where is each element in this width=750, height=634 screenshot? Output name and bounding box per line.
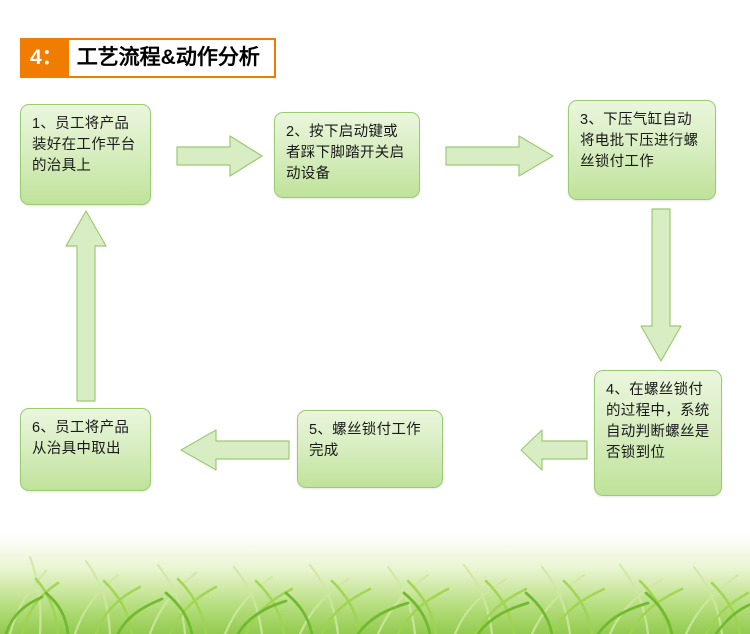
flow-arrow-1-to-2: [176, 134, 264, 178]
page-title-number: 4：: [20, 38, 69, 78]
page-title: 4： 工艺流程&动作分析: [20, 38, 276, 78]
page-title-text: 工艺流程&动作分析: [69, 38, 276, 78]
flow-node-1[interactable]: 1、员工将产品装好在工作平台的治具上: [20, 104, 151, 205]
flow-arrow-2-to-3: [445, 134, 555, 178]
grass-blades-icon: [0, 509, 750, 634]
grass-decoration: [0, 509, 750, 634]
flow-arrow-4-to-5: [520, 428, 588, 472]
flow-arrow-6-to-1: [64, 210, 108, 402]
flow-node-3[interactable]: 3、下压气缸自动将电批下压进行螺丝锁付工作: [568, 100, 716, 200]
flow-arrow-5-to-6: [180, 428, 290, 472]
slide-canvas: 4： 工艺流程&动作分析 1、员工将产品装好在工作平台的治具上 2、按下启动键或…: [0, 0, 750, 634]
flow-node-6[interactable]: 6、员工将产品从治具中取出: [20, 408, 151, 491]
flow-arrow-3-to-4: [639, 208, 683, 363]
flow-node-2[interactable]: 2、按下启动键或者踩下脚踏开关启动设备: [274, 112, 420, 198]
flow-node-4[interactable]: 4、在螺丝锁付的过程中，系统自动判断螺丝是否锁到位: [594, 370, 722, 496]
flow-node-5[interactable]: 5、螺丝锁付工作完成: [297, 410, 443, 488]
